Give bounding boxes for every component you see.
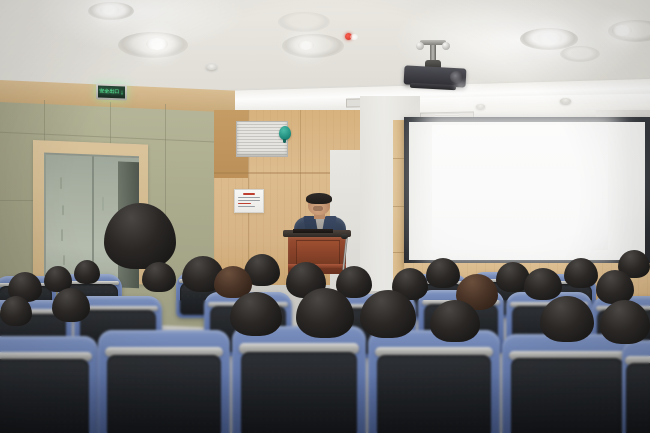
- smoke-detector-icon: [560, 98, 571, 104]
- presenter-face-shadow: [313, 206, 323, 211]
- exit-sign-face: 安全出口 ↓: [98, 85, 125, 98]
- notice-text-line: [238, 206, 255, 207]
- audience-head: [564, 258, 598, 288]
- downlight-2-icon: [118, 32, 188, 58]
- notice-title-bar: [243, 193, 254, 195]
- exit-arrow-icon: ↓: [120, 89, 124, 96]
- notice-text-line: [238, 197, 260, 198]
- projector-light-beam: [456, 82, 496, 108]
- exit-sign: 安全出口 ↓: [96, 83, 127, 100]
- downlight-4-icon: [278, 12, 330, 32]
- projected-image-area: [432, 125, 608, 250]
- seat[interactable]: [368, 330, 500, 433]
- green-balloon-decoration: [279, 126, 291, 140]
- downlight-3-icon: [282, 34, 344, 58]
- seat[interactable]: [0, 336, 98, 433]
- seat[interactable]: [622, 340, 650, 433]
- wall-notice-sign: [234, 189, 264, 213]
- podium-documents: [293, 229, 333, 233]
- downlight-6-icon: [608, 20, 650, 42]
- smoke-detector-icon: [206, 64, 217, 70]
- audience-head: [600, 300, 650, 344]
- audience-head: [74, 260, 100, 284]
- audience-head: [540, 296, 594, 342]
- ceiling-projector: [398, 40, 470, 88]
- exit-sign-text: 安全出口: [99, 89, 119, 95]
- audience-head: [142, 262, 176, 292]
- audience-head: [52, 288, 90, 322]
- notice-text-line: [238, 203, 251, 204]
- audience-head: [230, 292, 282, 336]
- projection-screen: [404, 117, 650, 265]
- projector-knob-icon: [442, 42, 450, 50]
- audience-head: [596, 270, 634, 304]
- microphone-head-icon: [341, 234, 348, 239]
- audience-head: [0, 296, 32, 326]
- projector-knob-icon: [416, 42, 424, 50]
- seat[interactable]: [98, 330, 230, 433]
- lecture-hall-photo: 安全出口 ↓: [0, 0, 650, 433]
- notice-text-line: [238, 200, 260, 201]
- audience-head: [430, 300, 480, 342]
- seat[interactable]: [232, 326, 366, 433]
- seat[interactable]: [502, 334, 632, 433]
- downlight-1-icon: [88, 2, 134, 20]
- downlight-7-icon: [560, 46, 600, 62]
- audience-head: [426, 258, 460, 288]
- roller-shutter: [236, 121, 288, 157]
- fire-sprinkler-icon: [345, 33, 358, 42]
- audience-head: [524, 268, 562, 300]
- presenter-hair: [306, 193, 332, 204]
